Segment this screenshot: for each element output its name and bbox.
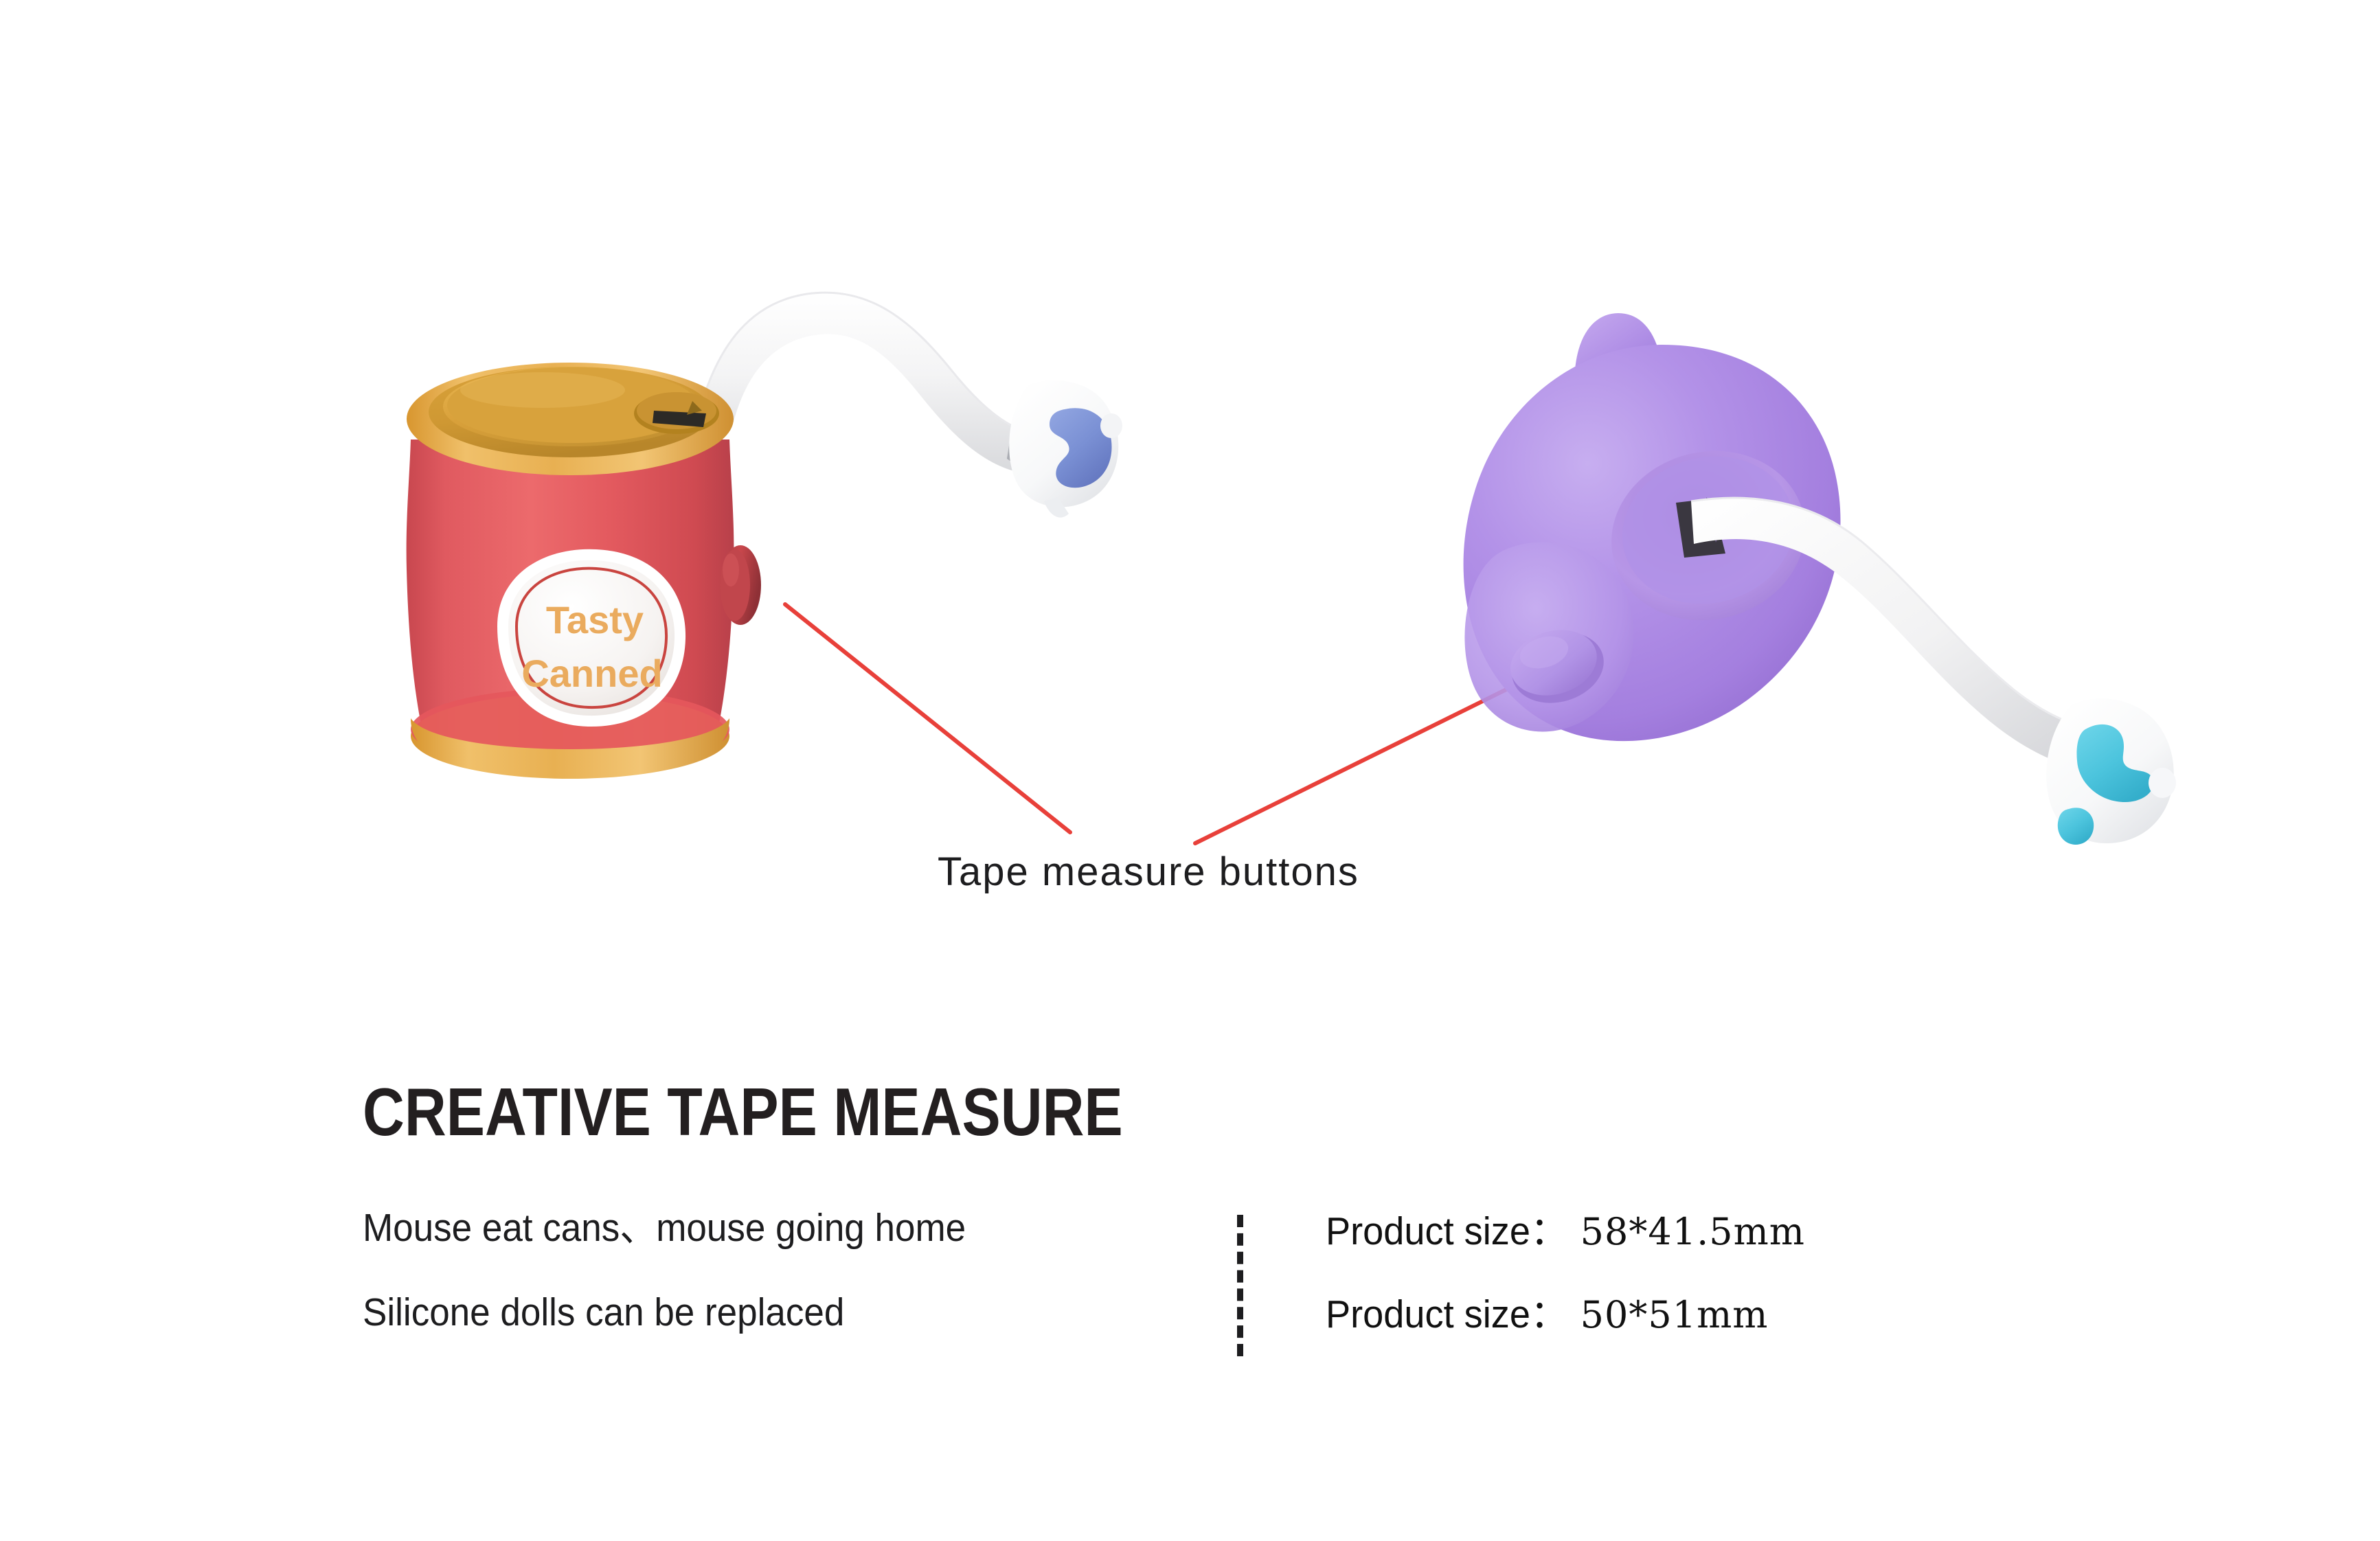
product-size-list: Product size：58*41.5mm Product size：50*5… bbox=[1326, 1212, 1805, 1334]
product-size-row-1: Product size：58*41.5mm bbox=[1326, 1212, 1805, 1251]
product-marketing-page: Tasty Canned bbox=[0, 0, 2380, 1541]
product-size-label-2: Product size： bbox=[1326, 1295, 1567, 1334]
mouse-tape-tip-figurine bbox=[2046, 698, 2176, 845]
callout-leader-lines bbox=[785, 604, 1509, 843]
can-tape-ribbon bbox=[699, 293, 1036, 474]
page-title: CREATIVE TAPE MEASURE bbox=[363, 1078, 1123, 1145]
can-tape-measure-product: Tasty Canned bbox=[407, 293, 1122, 779]
leader-line-mouse bbox=[1195, 688, 1509, 843]
can-tape-measure-button[interactable] bbox=[720, 545, 761, 625]
product-illustration-stage: Tasty Canned bbox=[0, 0, 2380, 996]
product-size-value-2: 50*51mm bbox=[1580, 1293, 1769, 1336]
product-size-row-2: Product size：50*51mm bbox=[1326, 1295, 1805, 1334]
can-label-badge: Tasty Canned bbox=[497, 549, 685, 727]
badge-text-line-1: Tasty bbox=[546, 598, 644, 641]
tagline-1: Mouse eat cans、mouse going home bbox=[363, 1209, 1116, 1248]
leader-line-can bbox=[785, 604, 1070, 832]
can-tape-tip-figurine bbox=[1009, 380, 1122, 518]
vertical-dashed-divider bbox=[1237, 1215, 1243, 1356]
badge-text-line-2: Canned bbox=[521, 652, 662, 695]
product-size-label-1: Product size： bbox=[1326, 1212, 1567, 1251]
mouse-tape-measure-product bbox=[1464, 313, 2176, 845]
tagline-2: Silicone dolls can be replaced bbox=[363, 1293, 1116, 1332]
product-size-value-1: 58*41.5mm bbox=[1580, 1210, 1805, 1253]
callout-label: Tape measure buttons bbox=[938, 849, 1359, 895]
tagline-list: Mouse eat cans、mouse going home Silicone… bbox=[363, 1209, 1173, 1332]
